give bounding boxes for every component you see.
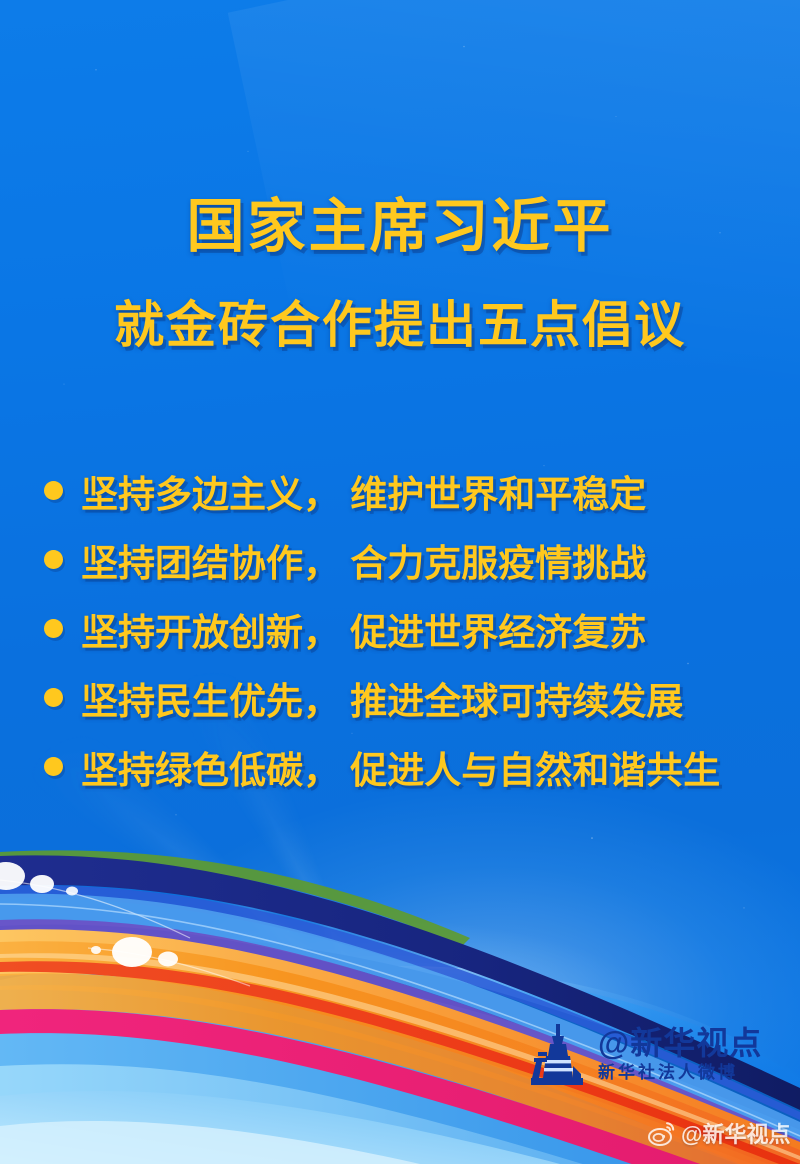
point-text: 坚持民生优先， 推进全球可持续发展 xyxy=(81,671,683,725)
brand-name: @新华视点 xyxy=(598,1027,762,1060)
weibo-watermark: @新华视点 xyxy=(648,1117,790,1149)
list-item: 坚持开放创新， 促进世界经济复苏 xyxy=(0,594,800,663)
list-item: 坚持民生优先， 推进全球可持续发展 xyxy=(0,663,800,732)
weibo-icon xyxy=(648,1119,676,1147)
point-text: 坚持多边主义， 维护世界和平稳定 xyxy=(81,464,646,518)
bullet-dot-icon xyxy=(44,757,63,776)
bullet-dot-icon xyxy=(44,688,63,707)
page-subtitle: 就金砖合作提出五点倡议 xyxy=(0,299,800,352)
brand-logo: @新华视点 新华社法人微博 xyxy=(528,1022,762,1088)
bullet-dot-icon xyxy=(44,550,63,569)
point-text: 坚持绿色低碳， 促进人与自然和谐共生 xyxy=(81,740,720,794)
bullet-dot-icon xyxy=(44,481,63,500)
list-item: 坚持多边主义， 维护世界和平稳定 xyxy=(0,456,800,525)
point-text: 坚持团结协作， 合力克服疫情挑战 xyxy=(81,533,646,587)
brand-subtitle: 新华社法人微博 xyxy=(598,1062,762,1083)
brand-text-block: @新华视点 新华社法人微博 xyxy=(598,1027,762,1084)
bullet-dot-icon xyxy=(44,619,63,638)
list-item: 坚持绿色低碳， 促进人与自然和谐共生 xyxy=(0,732,800,801)
points-list: 坚持多边主义， 维护世界和平稳定 坚持团结协作， 合力克服疫情挑战 坚持开放创新… xyxy=(0,456,800,801)
page-title: 国家主席习近平 xyxy=(0,196,800,257)
point-text: 坚持开放创新， 促进世界经济复苏 xyxy=(81,602,646,656)
poster-canvas: 国家主席习近平 就金砖合作提出五点倡议 坚持多边主义， 维护世界和平稳定 坚持团… xyxy=(0,0,800,1164)
list-item: 坚持团结协作， 合力克服疫情挑战 xyxy=(0,525,800,594)
ribbon-wave-graphic xyxy=(0,834,800,1164)
headline-block: 国家主席习近平 就金砖合作提出五点倡议 xyxy=(0,196,800,352)
horizon-glow xyxy=(0,796,794,1164)
watermark-text: @新华视点 xyxy=(681,1117,790,1149)
xinhua-tower-icon xyxy=(528,1022,590,1088)
